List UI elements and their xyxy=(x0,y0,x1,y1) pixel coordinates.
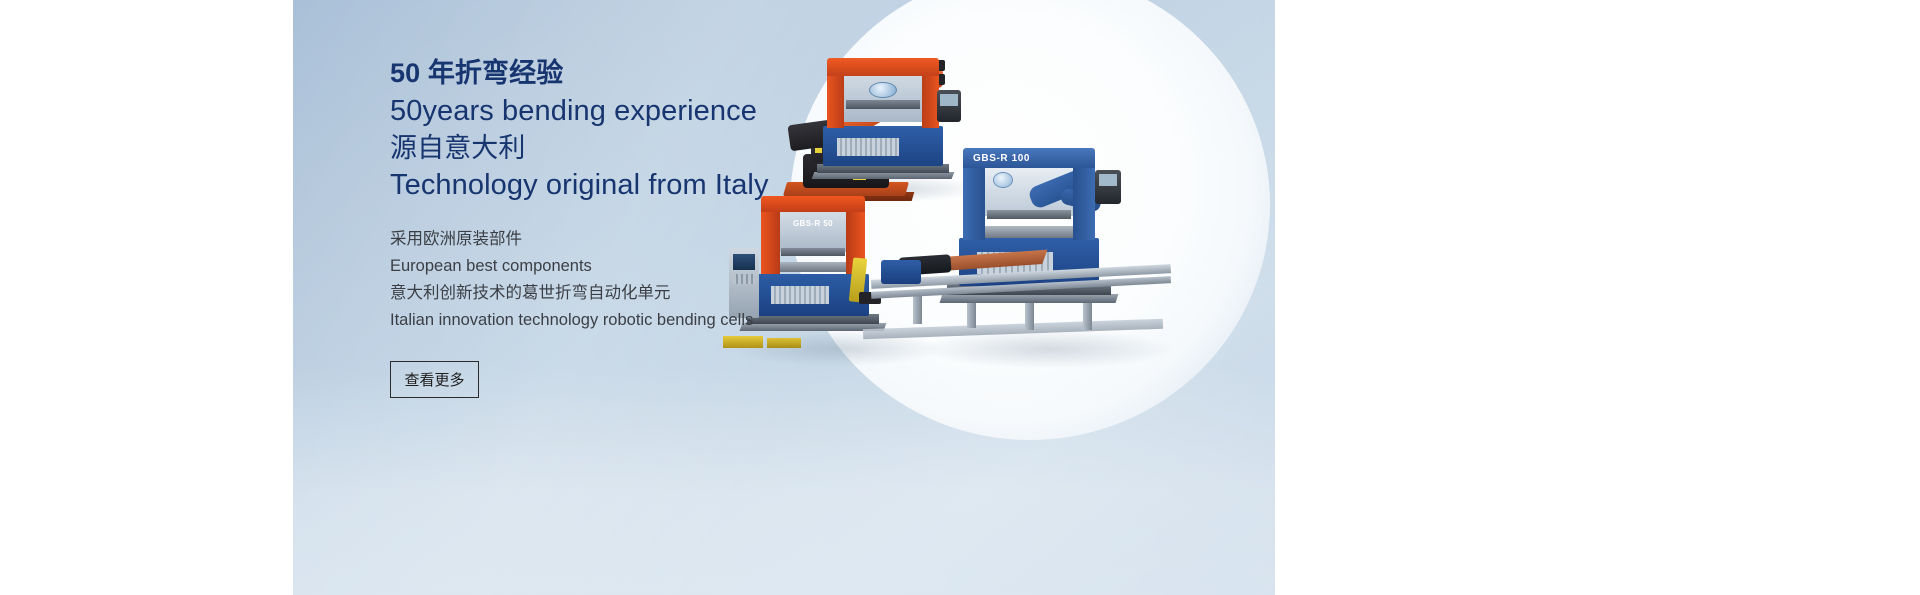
heading-line-3: 源自意大利 xyxy=(390,130,860,167)
right-machine-right-post xyxy=(1073,166,1095,240)
press-brake-gbs-r-100-image: GBS-R 100 xyxy=(933,148,1163,348)
view-more-button[interactable]: 查看更多 xyxy=(390,361,479,398)
right-machine-pendant-screen xyxy=(1099,174,1117,186)
right-machine-model-label: GBS-R 100 xyxy=(973,150,1085,166)
right-machine-blue-bin xyxy=(881,260,921,284)
hero-subtext: 采用欧洲原装部件 European best components 意大利创新技… xyxy=(390,226,860,334)
heading-line-1: 50 年折弯经验 xyxy=(390,55,860,92)
heading-line-4: Technology original from Italy xyxy=(390,167,860,204)
heading-line-2: 50years bending experience xyxy=(390,93,860,130)
top-machine-badge-icon xyxy=(869,82,897,98)
hero-copy: 50 年折弯经验 50years bending experience 源自意大… xyxy=(390,55,860,398)
right-machine-conveyor-leg-4 xyxy=(1083,300,1092,330)
right-machine-left-post xyxy=(963,166,985,240)
top-machine-pendant-screen xyxy=(940,94,958,106)
right-machine-bed xyxy=(973,226,1085,238)
right-machine-badge-icon xyxy=(993,172,1013,188)
hero-banner: GBS-R 50 xyxy=(293,0,1275,595)
subtext-line-3: 意大利创新技术的葛世折弯自动化单元 xyxy=(390,280,860,307)
right-machine-ram xyxy=(987,210,1071,219)
subtext-line-1: 采用欧洲原装部件 xyxy=(390,226,860,253)
page-root: GBS-R 50 xyxy=(0,0,1920,595)
right-machine-floor-strip xyxy=(863,319,1163,339)
subtext-line-2: European best components xyxy=(390,253,860,280)
right-machine-skirt xyxy=(940,294,1119,303)
subtext-line-4: Italian innovation technology robotic be… xyxy=(390,307,860,334)
